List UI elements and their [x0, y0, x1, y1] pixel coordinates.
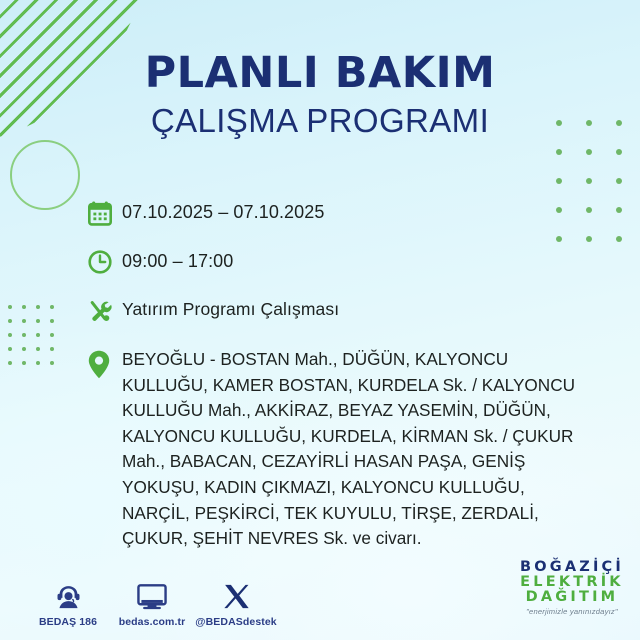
headset-support-icon: [55, 580, 82, 610]
brand-line-1: BOĞAZİÇİ: [520, 560, 624, 575]
map-pin-icon: [88, 347, 122, 380]
time-range-value: 09:00 – 17:00: [122, 249, 608, 270]
planned-maintenance-poster: PLANLI BAKIM ÇALIŞMA PROGRAMI: [0, 0, 640, 640]
brand-line-2: ELEKTRİK: [520, 575, 624, 590]
brand-tagline: "enerjimizle yanınızdayız": [520, 607, 624, 616]
calendar-icon: [88, 200, 122, 231]
work-type-value: Yatırım Programı Çalışması: [122, 298, 608, 319]
contact-item-website[interactable]: bedas.com.tr: [110, 580, 194, 628]
contact-label-x: @BEDASdestek: [195, 616, 276, 628]
x-twitter-icon: [223, 580, 250, 610]
brand-line-3: DAĞITIM: [520, 590, 624, 605]
time-row: 09:00 – 17:00: [88, 249, 608, 280]
poster-footer: BEDAŞ 186 bedas.com.tr: [0, 562, 640, 632]
monitor-website-icon: [137, 580, 167, 610]
info-list: 07.10.2025 – 07.10.2025 09:00 – 17:00: [88, 200, 608, 552]
contact-item-phone[interactable]: BEDAŞ 186: [26, 580, 110, 628]
contact-label-phone: BEDAŞ 186: [39, 616, 97, 628]
date-row: 07.10.2025 – 07.10.2025: [88, 200, 608, 231]
poster-heading: PLANLI BAKIM ÇALIŞMA PROGRAMI: [0, 52, 640, 140]
location-value: BEYOĞLU - BOSTAN Mah., DÜĞÜN, KALYONCU K…: [122, 347, 608, 552]
circle-outline-decoration: [10, 140, 80, 210]
location-row: BEYOĞLU - BOSTAN Mah., DÜĞÜN, KALYONCU K…: [88, 347, 608, 552]
bedas-logo: BOĞAZİÇİ ELEKTRİK DAĞITIM "enerjimizle y…: [520, 560, 624, 616]
page-title: PLANLI BAKIM: [0, 52, 640, 96]
work-type-row: Yatırım Programı Çalışması: [88, 298, 608, 329]
contact-label-website: bedas.com.tr: [119, 616, 186, 628]
page-subtitle: ÇALIŞMA PROGRAMI: [0, 102, 640, 140]
clock-icon: [88, 249, 122, 280]
contact-list: BEDAŞ 186 bedas.com.tr: [26, 580, 278, 628]
contact-item-x[interactable]: @BEDASdestek: [194, 580, 278, 628]
tools-icon: [88, 298, 122, 329]
date-range-value: 07.10.2025 – 07.10.2025: [122, 200, 608, 221]
